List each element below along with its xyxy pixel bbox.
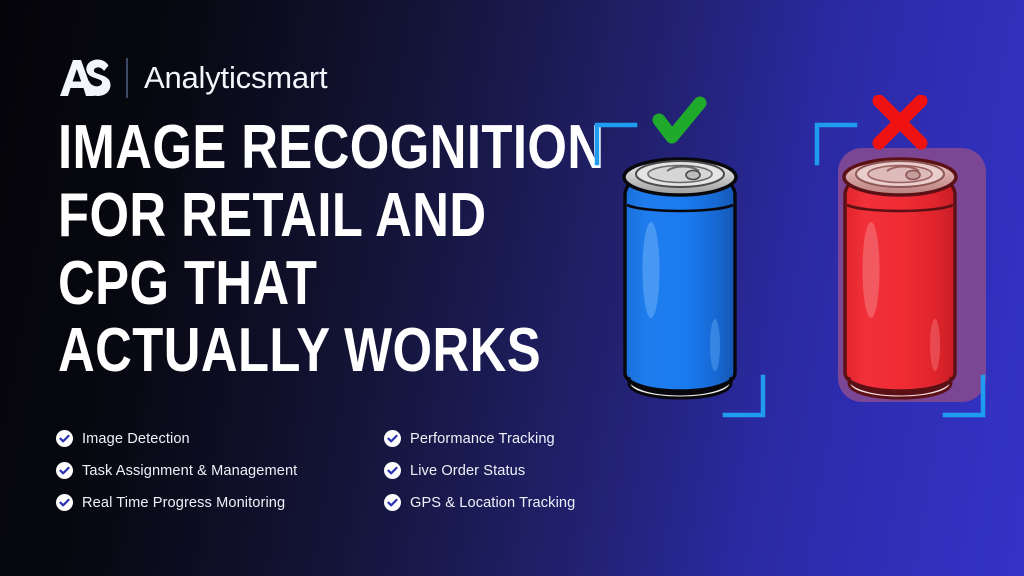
check-circle-icon [384, 494, 401, 511]
list-item: Task Assignment & Management [56, 462, 384, 479]
brand-logo: Analyticsmart [58, 52, 327, 104]
list-item-label: Live Order Status [410, 463, 525, 479]
feature-list: Image Detection Task Assignment & Manage… [56, 430, 656, 511]
list-item-label: GPS & Location Tracking [410, 495, 575, 511]
red-x-icon [879, 101, 921, 143]
list-item: GPS & Location Tracking [384, 494, 654, 511]
red-soda-can-icon [844, 159, 956, 398]
headline-line-4: actually works [58, 321, 484, 382]
headline-line-3: CPG that [58, 254, 484, 315]
check-circle-icon [384, 462, 401, 479]
green-check-icon [659, 103, 700, 137]
check-circle-icon [56, 462, 73, 479]
list-item: Live Order Status [384, 462, 654, 479]
check-circle-icon [56, 494, 73, 511]
list-item-label: Performance Tracking [410, 431, 555, 447]
as-monogram-icon [58, 55, 112, 101]
logo-divider [126, 58, 128, 98]
list-item-label: Task Assignment & Management [82, 463, 297, 479]
list-item: Image Detection [56, 430, 384, 447]
headline-line-1: Image Recognition [58, 118, 484, 179]
rejected-product-group [817, 101, 986, 415]
brand-name: Analyticsmart [144, 60, 327, 96]
check-circle-icon [56, 430, 73, 447]
approved-product-group [597, 103, 763, 415]
list-item: Real Time Progress Monitoring [56, 494, 384, 511]
headline-line-2: for Retail and [58, 186, 484, 247]
product-recognition-graphic [575, 95, 1015, 435]
feature-column-left: Image Detection Task Assignment & Manage… [56, 430, 384, 511]
check-circle-icon [384, 430, 401, 447]
blue-soda-can-icon [624, 159, 736, 398]
list-item-label: Real Time Progress Monitoring [82, 495, 285, 511]
promo-banner: Analyticsmart Image Recognition for Reta… [0, 0, 1024, 576]
list-item-label: Image Detection [82, 431, 190, 447]
feature-column-right: Performance Tracking Live Order Status G… [384, 430, 654, 511]
page-title: Image Recognition for Retail and CPG tha… [58, 118, 578, 389]
